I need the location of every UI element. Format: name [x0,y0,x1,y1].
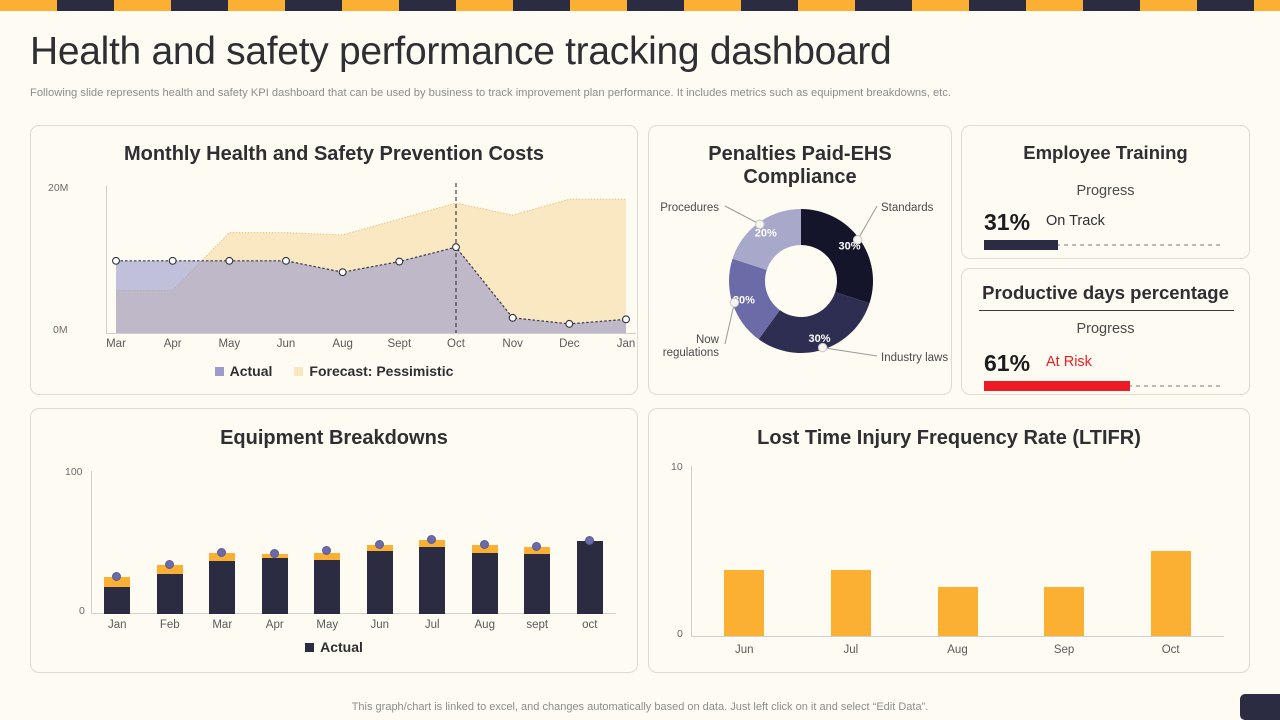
x-axis-label-ltifr: Sep [1034,644,1094,656]
x-axis-label-equipment: May [299,619,355,631]
x-axis-label-equipment: sept [509,619,565,631]
legend-prevention: Actual Forecast: Pessimistic [31,363,637,379]
donut-slice-percent: 30% [809,333,831,345]
bar-segment-actual [104,587,130,614]
bar-marker-dot [217,548,226,557]
donut-label-now-regulations: Now regulations [649,334,719,360]
ltifr-bars-plot [691,466,1224,636]
y-axis-tick-max-equipment: 100 [65,466,83,478]
bar-segment-actual [209,561,235,614]
x-axis-label-ltifr: Jun [714,644,774,656]
legend-item-actual[interactable]: Actual [215,363,273,379]
x-axis-label-prevention: Dec [543,338,595,350]
bar-column-equipment[interactable] [104,577,130,614]
kpi-bar-fill-productive [984,381,1130,391]
kpi-title-training: Employee Training [962,142,1249,164]
bar-column-ltifr[interactable] [1151,551,1191,636]
x-axis-label-ltifr: Aug [928,644,988,656]
bar-segment-actual [314,560,340,614]
bar-segment-actual [157,574,183,614]
footer-note: This graph/chart is linked to excel, and… [0,701,1280,713]
bar-column-ltifr[interactable] [724,570,764,636]
x-axis-label-prevention: Jun [260,338,312,350]
corner-accent-block [1240,694,1280,720]
x-axis-label-prevention: Mar [90,338,142,350]
kpi-progress-label-productive: Progress [962,321,1249,337]
kpi-progress-label-training: Progress [962,183,1249,199]
bar-segment-actual [367,551,393,614]
legend-equipment: Actual [31,639,637,655]
bar-column-equipment[interactable] [157,565,183,614]
bar-column-equipment[interactable] [524,547,550,614]
bar-column-equipment[interactable] [262,554,288,614]
card-employee-training[interactable]: Employee Training Progress 31% On Track [961,125,1250,259]
x-axis-label-equipment: Aug [457,619,513,631]
x-axis-label-equipment: Jan [89,619,145,631]
x-axis-label-prevention: May [203,338,255,350]
donut-label-procedures: Procedures [660,202,719,215]
legend-item-equipment-actual[interactable]: Actual [305,639,363,655]
card-ltifr[interactable]: Lost Time Injury Frequency Rate (LTIFR) … [648,408,1250,673]
y-axis-tick-min-prevention: 0M [53,324,68,336]
bar-segment-actual [419,547,445,614]
x-axis-label-prevention: Aug [317,338,369,350]
bar-marker-dot [532,542,541,551]
legend-swatch-forecast [294,367,303,376]
bar-column-ltifr[interactable] [831,570,871,636]
kpi-percent-productive: 61% [984,350,1030,377]
bar-marker-dot [112,572,121,581]
card-equipment-breakdowns[interactable]: Equipment Breakdowns 100 0 JanFebMarAprM… [30,408,638,673]
bar-column-equipment[interactable] [209,553,235,614]
card-title-equipment: Equipment Breakdowns [31,427,637,450]
x-axis-label-equipment: Jul [404,619,460,631]
y-axis-line-prevention [106,186,107,334]
bar-segment-actual [472,553,498,614]
legend-swatch-actual [215,367,224,376]
decorative-top-stripe [0,0,1280,11]
y-axis-tick-min-ltifr: 0 [677,628,683,640]
page-subtitle: Following slide represents health and sa… [30,87,951,99]
legend-swatch-equipment-actual [305,643,314,652]
legend-label-actual: Actual [230,363,273,379]
kpi-title-productive: Productive days percentage [962,282,1249,304]
legend-label-equipment-actual: Actual [320,639,363,655]
bar-column-ltifr[interactable] [1044,587,1084,636]
bar-marker-dot [270,549,279,558]
card-productive-days[interactable]: Productive days percentage Progress 61% … [961,268,1250,395]
kpi-title-divider [979,310,1234,311]
x-axis-label-equipment: Feb [142,619,198,631]
bar-segment-actual [577,541,603,614]
bar-column-equipment[interactable] [367,545,393,614]
bar-segment-actual [262,558,288,614]
x-axis-label-prevention: Apr [147,338,199,350]
donut-slice-percent: 20% [755,227,777,239]
legend-label-forecast: Forecast: Pessimistic [309,363,453,379]
x-axis-label-equipment: Apr [247,619,303,631]
bar-marker-dot [585,536,594,545]
equipment-bars-plot [91,471,616,614]
x-axis-label-equipment: oct [562,619,618,631]
area-chart-plot [106,181,636,341]
y-axis-tick-max-ltifr: 10 [671,461,683,473]
card-title-prevention: Monthly Health and Safety Prevention Cos… [31,143,637,166]
legend-item-forecast[interactable]: Forecast: Pessimistic [294,363,453,379]
bar-column-ltifr[interactable] [938,587,978,636]
x-axis-label-equipment: Jun [352,619,408,631]
x-axis-label-prevention: Sept [373,338,425,350]
donut-label-industry-laws: Industry laws [881,352,948,365]
donut-label-standards: Standards [881,202,933,215]
bar-marker-dot [427,535,436,544]
y-axis-tick-min-equipment: 0 [79,605,85,617]
card-title-ltifr: Lost Time Injury Frequency Rate (LTIFR) [649,427,1249,450]
x-axis-label-equipment: Mar [194,619,250,631]
bar-segment-actual [524,554,550,614]
y-axis-tick-max-prevention: 20M [48,182,68,194]
kpi-bar-fill-training [984,240,1058,250]
card-prevention-costs[interactable]: Monthly Health and Safety Prevention Cos… [30,125,638,395]
kpi-percent-training: 31% [984,209,1030,236]
x-axis-label-ltifr: Oct [1141,644,1201,656]
page-title: Health and safety performance tracking d… [30,30,891,74]
x-axis-line-prevention [106,333,636,334]
x-axis-label-prevention: Jan [600,338,652,350]
x-axis-label-prevention: Oct [430,338,482,350]
kpi-status-productive: At Risk [1046,354,1092,370]
dashboard-slide: Health and safety performance tracking d… [0,0,1280,720]
x-axis-line-ltifr [691,636,1224,637]
x-axis-label-prevention: Nov [487,338,539,350]
bar-column-equipment[interactable] [577,541,603,614]
kpi-status-training: On Track [1046,213,1105,229]
bar-column-equipment[interactable] [472,545,498,614]
bar-column-equipment[interactable] [314,553,340,614]
x-axis-label-ltifr: Jul [821,644,881,656]
card-penalties-ehs[interactable]: Penalties Paid-EHS Compliance 30%30%20%2… [648,125,952,395]
bar-column-equipment[interactable] [419,540,445,614]
